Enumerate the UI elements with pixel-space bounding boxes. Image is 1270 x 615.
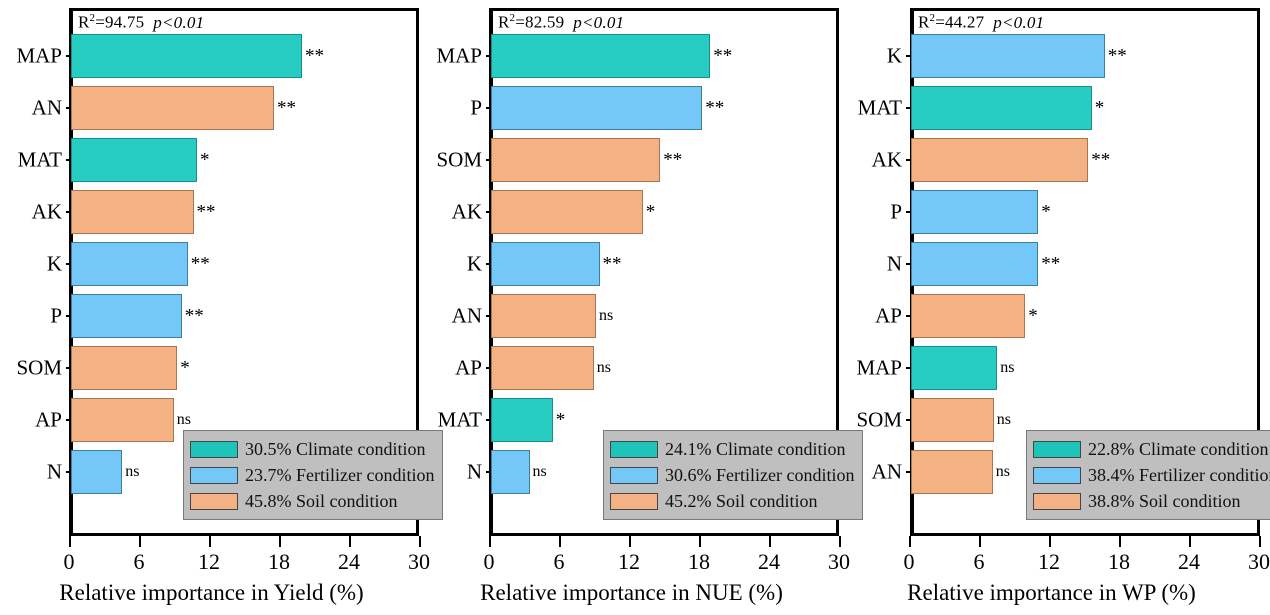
y-label-text: AN: [872, 460, 902, 485]
bar: [911, 86, 1092, 130]
x-axis-title: Relative importance in WP (%): [840, 580, 1263, 606]
significance-label: **: [191, 255, 210, 274]
legend-label: 24.1% Climate condition: [665, 439, 845, 460]
significance-label: ns: [1000, 360, 1014, 376]
r2-value: =82.59: [515, 13, 564, 32]
bar-row: **: [71, 186, 419, 238]
bar: [71, 34, 302, 78]
bar-row: **: [71, 290, 419, 342]
bar-row: ns: [491, 342, 839, 394]
bar-row: **: [71, 30, 419, 82]
x-axis-tick-mark: [69, 536, 71, 547]
legend-swatch-soil: [1033, 493, 1081, 510]
legend-item: 45.2% Soil condition: [610, 488, 854, 514]
x-axis-tick-labels: 0612182430: [909, 549, 1259, 579]
bar-row: **: [491, 134, 839, 186]
x-axis-title: Relative importance in NUE (%): [420, 580, 843, 606]
bar-row: *: [911, 82, 1259, 134]
y-label-text: P: [50, 304, 62, 329]
p-value: p<0.01: [573, 13, 624, 32]
y-axis-tick-label: AN: [0, 82, 66, 134]
significance-label: **: [277, 99, 296, 118]
y-label-text: N: [47, 460, 62, 485]
bar: [491, 450, 530, 494]
x-axis-tick-label: 0: [904, 549, 915, 575]
y-axis-labels: MAPANMATAKKPSOMAPN: [0, 30, 66, 520]
x-axis-ticks: [489, 536, 839, 548]
panel-b: R2=82.59p<0.01MAPPSOMAKKANAPMATN********…: [420, 0, 843, 615]
significance-label: *: [1095, 99, 1105, 118]
y-label-text: AN: [32, 96, 62, 121]
y-axis-tick-label: N: [0, 446, 66, 498]
y-axis-tick-label: MAP: [0, 30, 66, 82]
y-axis-tick-label: MAT: [420, 394, 486, 446]
bar-row: **: [71, 238, 419, 290]
r2-text: R: [78, 13, 90, 32]
x-axis-tick-label: 6: [554, 549, 565, 575]
r2-text: R: [918, 13, 930, 32]
y-label-text: N: [467, 460, 482, 485]
legend-item: 38.4% Fertilizer condition: [1033, 462, 1270, 488]
r2-value: =44.27: [935, 13, 984, 32]
significance-label: **: [185, 307, 204, 326]
x-axis-tick-labels: 0612182430: [489, 549, 839, 579]
y-label-text: SOM: [436, 148, 482, 173]
bar-row: **: [491, 82, 839, 134]
bar: [911, 346, 997, 390]
y-axis-tick-label: N: [840, 238, 906, 290]
legend-swatch-climate: [1033, 441, 1081, 458]
y-label-text: AP: [875, 304, 902, 329]
x-axis-tick-label: 6: [134, 549, 145, 575]
figure-three-panel-bar-chart: R2=94.75p<0.01MAPANMATAKKPSOMAPN********…: [0, 0, 1270, 615]
y-label-text: SOM: [16, 356, 62, 381]
bar: [911, 294, 1025, 338]
bar: [71, 294, 182, 338]
bar-row: *: [491, 186, 839, 238]
bar: [71, 242, 188, 286]
r2-text: R: [498, 13, 510, 32]
bar: [491, 34, 710, 78]
x-axis-tick-mark: [629, 536, 631, 547]
y-axis-tick-label: P: [420, 82, 486, 134]
significance-label: ns: [997, 412, 1011, 428]
significance-label: **: [305, 47, 324, 66]
legend-label: 30.5% Climate condition: [245, 439, 425, 460]
x-axis-tick-mark: [1049, 536, 1051, 547]
bar: [911, 138, 1088, 182]
bar-row: **: [71, 82, 419, 134]
bar: [71, 450, 122, 494]
legend-item: 45.8% Soil condition: [190, 488, 434, 514]
bar-row: **: [911, 134, 1259, 186]
x-axis-tick-mark: [909, 536, 911, 547]
bar-row: **: [911, 30, 1259, 82]
y-axis-tick-label: K: [0, 238, 66, 290]
legend-item: 22.8% Climate condition: [1033, 436, 1270, 462]
significance-label: **: [1041, 255, 1060, 274]
y-axis-tick-label: AP: [420, 342, 486, 394]
legend: 30.5% Climate condition23.7% Fertilizer …: [183, 430, 443, 520]
bar: [491, 346, 594, 390]
legend-label: 38.4% Fertilizer condition: [1088, 465, 1270, 486]
bar-row: ns: [911, 342, 1259, 394]
significance-label: **: [705, 99, 724, 118]
x-axis-tick-label: 12: [198, 549, 220, 575]
x-axis-tick-label: 18: [688, 549, 710, 575]
bar: [71, 138, 197, 182]
legend-item: 30.5% Climate condition: [190, 436, 434, 462]
y-label-text: MAP: [856, 356, 902, 381]
bar: [71, 86, 274, 130]
bar-row: ns: [491, 290, 839, 342]
bar: [491, 190, 643, 234]
legend-item: 30.6% Fertilizer condition: [610, 462, 854, 488]
x-axis-tick-mark: [139, 536, 141, 547]
significance-label: *: [1028, 307, 1038, 326]
legend-label: 45.8% Soil condition: [245, 491, 398, 512]
significance-label: **: [1108, 47, 1127, 66]
y-label-text: MAT: [18, 148, 62, 173]
x-axis-tick-label: 30: [1248, 549, 1270, 575]
significance-label: *: [180, 359, 190, 378]
y-label-text: N: [887, 252, 902, 277]
y-axis-labels: KMATAKPNAPMAPSOMAN: [840, 30, 906, 520]
x-axis-tick-label: 6: [974, 549, 985, 575]
y-axis-tick-label: P: [0, 290, 66, 342]
y-label-text: MAP: [436, 44, 482, 69]
y-label-text: K: [47, 252, 62, 277]
significance-label: ns: [177, 412, 191, 428]
bar-row: **: [911, 238, 1259, 290]
y-axis-tick-label: AN: [420, 290, 486, 342]
x-axis-tick-mark: [699, 536, 701, 547]
legend-label: 45.2% Soil condition: [665, 491, 818, 512]
legend-item: 23.7% Fertilizer condition: [190, 462, 434, 488]
legend-item: 38.8% Soil condition: [1033, 488, 1270, 514]
legend-label: 22.8% Climate condition: [1088, 439, 1268, 460]
legend-label: 23.7% Fertilizer condition: [245, 465, 434, 486]
significance-label: **: [603, 255, 622, 274]
y-label-text: AK: [32, 200, 62, 225]
significance-label: ns: [599, 308, 613, 324]
x-axis-tick-label: 24: [1178, 549, 1200, 575]
bar: [911, 190, 1038, 234]
y-label-text: P: [470, 96, 482, 121]
y-label-text: AK: [452, 200, 482, 225]
legend-swatch-soil: [610, 493, 658, 510]
bar-row: **: [491, 30, 839, 82]
significance-label: *: [200, 151, 210, 170]
significance-label: ns: [125, 464, 139, 480]
x-axis-tick-label: 12: [618, 549, 640, 575]
y-axis-tick-label: K: [420, 238, 486, 290]
x-axis-ticks: [909, 536, 1259, 548]
legend-item: 24.1% Climate condition: [610, 436, 854, 462]
bar: [491, 398, 553, 442]
legend-swatch-climate: [610, 441, 658, 458]
significance-label: **: [1091, 151, 1110, 170]
bar: [71, 398, 174, 442]
y-label-text: MAP: [16, 44, 62, 69]
y-axis-tick-label: AP: [0, 394, 66, 446]
bar-row: *: [71, 342, 419, 394]
x-axis-tick-mark: [349, 536, 351, 547]
x-axis-tick-mark: [1119, 536, 1121, 547]
y-axis-labels: MAPPSOMAKKANAPMATN: [420, 30, 486, 520]
legend-label: 30.6% Fertilizer condition: [665, 465, 854, 486]
x-axis-tick-label: 0: [484, 549, 495, 575]
y-label-text: AN: [452, 304, 482, 329]
y-axis-tick-label: MAT: [840, 82, 906, 134]
panel-a: R2=94.75p<0.01MAPANMATAKKPSOMAPN********…: [0, 0, 423, 615]
bar: [911, 450, 993, 494]
bar: [911, 398, 994, 442]
y-axis-tick-label: MAT: [0, 134, 66, 186]
significance-label: *: [556, 411, 566, 430]
y-axis-tick-label: SOM: [840, 394, 906, 446]
y-axis-tick-label: AN: [840, 446, 906, 498]
x-axis-tick-mark: [1189, 536, 1191, 547]
y-axis-tick-label: MAP: [840, 342, 906, 394]
legend-swatch-fertilizer: [1033, 467, 1081, 484]
legend-swatch-fertilizer: [610, 467, 658, 484]
y-label-text: K: [887, 44, 902, 69]
significance-label: ns: [996, 464, 1010, 480]
x-axis-tick-mark: [209, 536, 211, 547]
x-axis-title: Relative importance in Yield (%): [0, 580, 423, 606]
y-axis-tick-label: AK: [840, 134, 906, 186]
bar: [491, 242, 600, 286]
significance-label: ns: [597, 360, 611, 376]
x-axis-tick-label: 12: [1038, 549, 1060, 575]
significance-label: *: [646, 203, 656, 222]
legend: 24.1% Climate condition30.6% Fertilizer …: [603, 430, 863, 520]
y-label-text: MAT: [858, 96, 902, 121]
y-axis-tick-label: P: [840, 186, 906, 238]
significance-label: **: [663, 151, 682, 170]
significance-label: *: [1041, 203, 1051, 222]
x-axis-tick-label: 24: [758, 549, 780, 575]
y-label-text: K: [467, 252, 482, 277]
bar-row: **: [491, 238, 839, 290]
x-axis-tick-mark: [489, 536, 491, 547]
y-label-text: AK: [872, 148, 902, 173]
y-axis-tick-label: AK: [420, 186, 486, 238]
x-axis-tick-mark: [979, 536, 981, 547]
x-axis-tick-label: 0: [64, 549, 75, 575]
x-axis-tick-label: 18: [1108, 549, 1130, 575]
legend: 22.8% Climate condition38.4% Fertilizer …: [1026, 430, 1270, 520]
significance-label: **: [713, 47, 732, 66]
legend-label: 38.8% Soil condition: [1088, 491, 1241, 512]
bar: [71, 190, 194, 234]
y-label-text: P: [890, 200, 902, 225]
legend-swatch-fertilizer: [190, 467, 238, 484]
bar: [491, 86, 702, 130]
panel-c: R2=44.27p<0.01KMATAKPNAPMAPSOMAN********…: [840, 0, 1263, 615]
bar-row: *: [911, 186, 1259, 238]
r2-value: =94.75: [95, 13, 144, 32]
y-label-text: MAT: [438, 408, 482, 433]
p-value: p<0.01: [993, 13, 1044, 32]
bar: [71, 346, 177, 390]
bar: [491, 294, 596, 338]
bar-row: *: [71, 134, 419, 186]
x-axis-tick-label: 18: [268, 549, 290, 575]
x-axis-tick-labels: 0612182430: [69, 549, 419, 579]
legend-swatch-soil: [190, 493, 238, 510]
x-axis-tick-mark: [559, 536, 561, 547]
y-axis-tick-label: SOM: [420, 134, 486, 186]
x-axis-tick-mark: [1259, 536, 1261, 547]
p-value: p<0.01: [153, 13, 204, 32]
y-axis-tick-label: K: [840, 30, 906, 82]
y-label-text: AP: [35, 408, 62, 433]
y-label-text: AP: [455, 356, 482, 381]
x-axis-ticks: [69, 536, 419, 548]
x-axis-tick-mark: [769, 536, 771, 547]
y-axis-tick-label: AP: [840, 290, 906, 342]
bar-row: *: [911, 290, 1259, 342]
y-axis-tick-label: SOM: [0, 342, 66, 394]
bar: [911, 242, 1038, 286]
bar: [911, 34, 1105, 78]
y-axis-tick-label: AK: [0, 186, 66, 238]
x-axis-tick-label: 24: [338, 549, 360, 575]
significance-label: ns: [533, 464, 547, 480]
y-axis-tick-label: N: [420, 446, 486, 498]
y-axis-tick-label: MAP: [420, 30, 486, 82]
x-axis-tick-mark: [279, 536, 281, 547]
bar: [491, 138, 660, 182]
y-label-text: SOM: [856, 408, 902, 433]
legend-swatch-climate: [190, 441, 238, 458]
significance-label: **: [197, 203, 216, 222]
